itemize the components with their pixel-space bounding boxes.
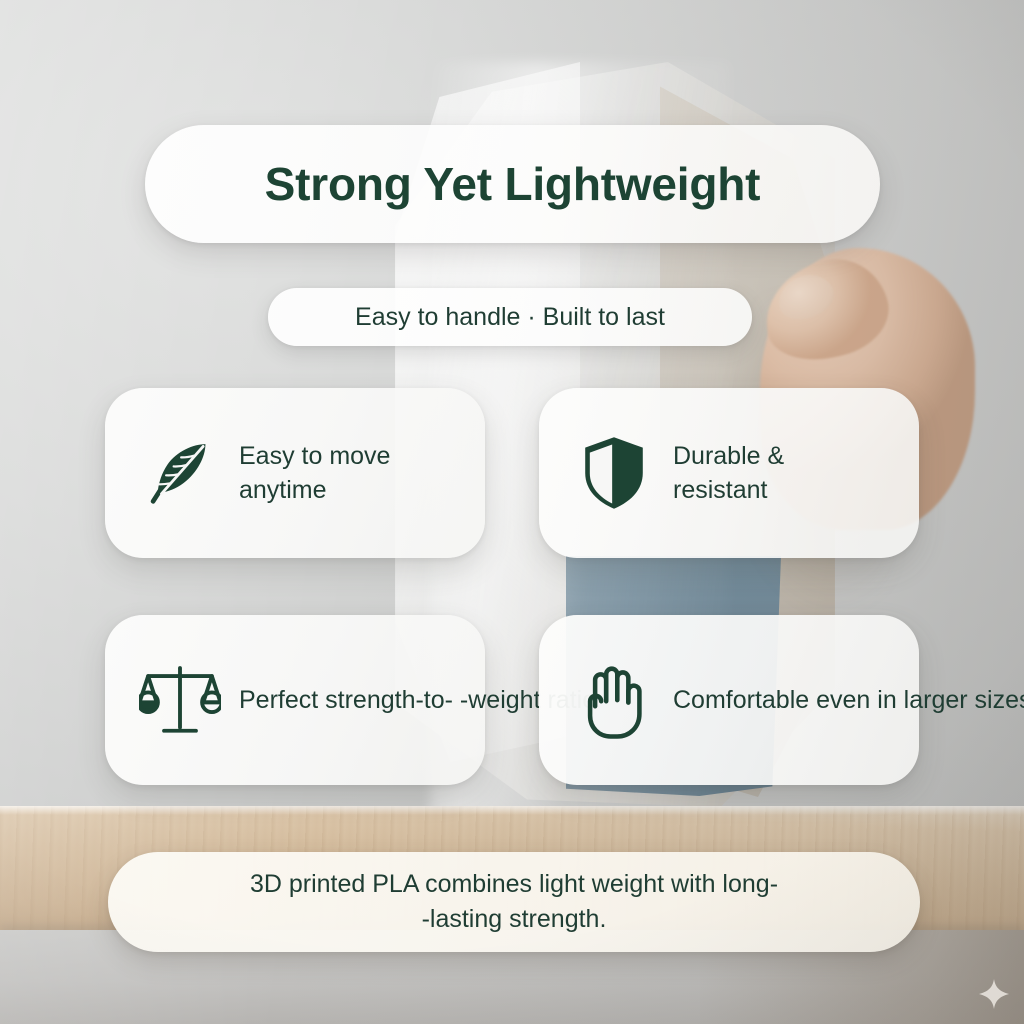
page-subtitle: Easy to handle · Built to last: [355, 303, 665, 332]
balance-scale-icon: [139, 659, 221, 741]
product-feature-card: Strong Yet Lightweight Easy to handle · …: [0, 0, 1024, 1024]
feature-label: Comfortable even in larger sizes: [673, 683, 1024, 718]
feature-card-easy-to-move[interactable]: Easy to move anytime: [105, 388, 485, 558]
footer-text: 3D printed PLA combines light weight wit…: [250, 867, 778, 938]
title-pill: Strong Yet Lightweight: [145, 125, 880, 243]
footer-banner: 3D printed PLA combines light weight wit…: [108, 852, 920, 952]
page-title: Strong Yet Lightweight: [265, 157, 761, 211]
sparkle-icon: [979, 979, 1009, 1009]
feature-card-strength-to-weight[interactable]: Perfect strength-to- -weight ratio: [105, 615, 485, 785]
feather-icon: [139, 432, 221, 514]
feature-card-comfortable[interactable]: Comfortable even in larger sizes: [539, 615, 919, 785]
subtitle-pill: Easy to handle · Built to last: [268, 288, 752, 346]
feature-label: Easy to move anytime: [239, 439, 390, 508]
feature-card-durable[interactable]: Durable & resistant: [539, 388, 919, 558]
feature-label: Durable & resistant: [673, 439, 784, 508]
shield-icon: [573, 432, 655, 514]
hand-icon: [573, 659, 655, 741]
